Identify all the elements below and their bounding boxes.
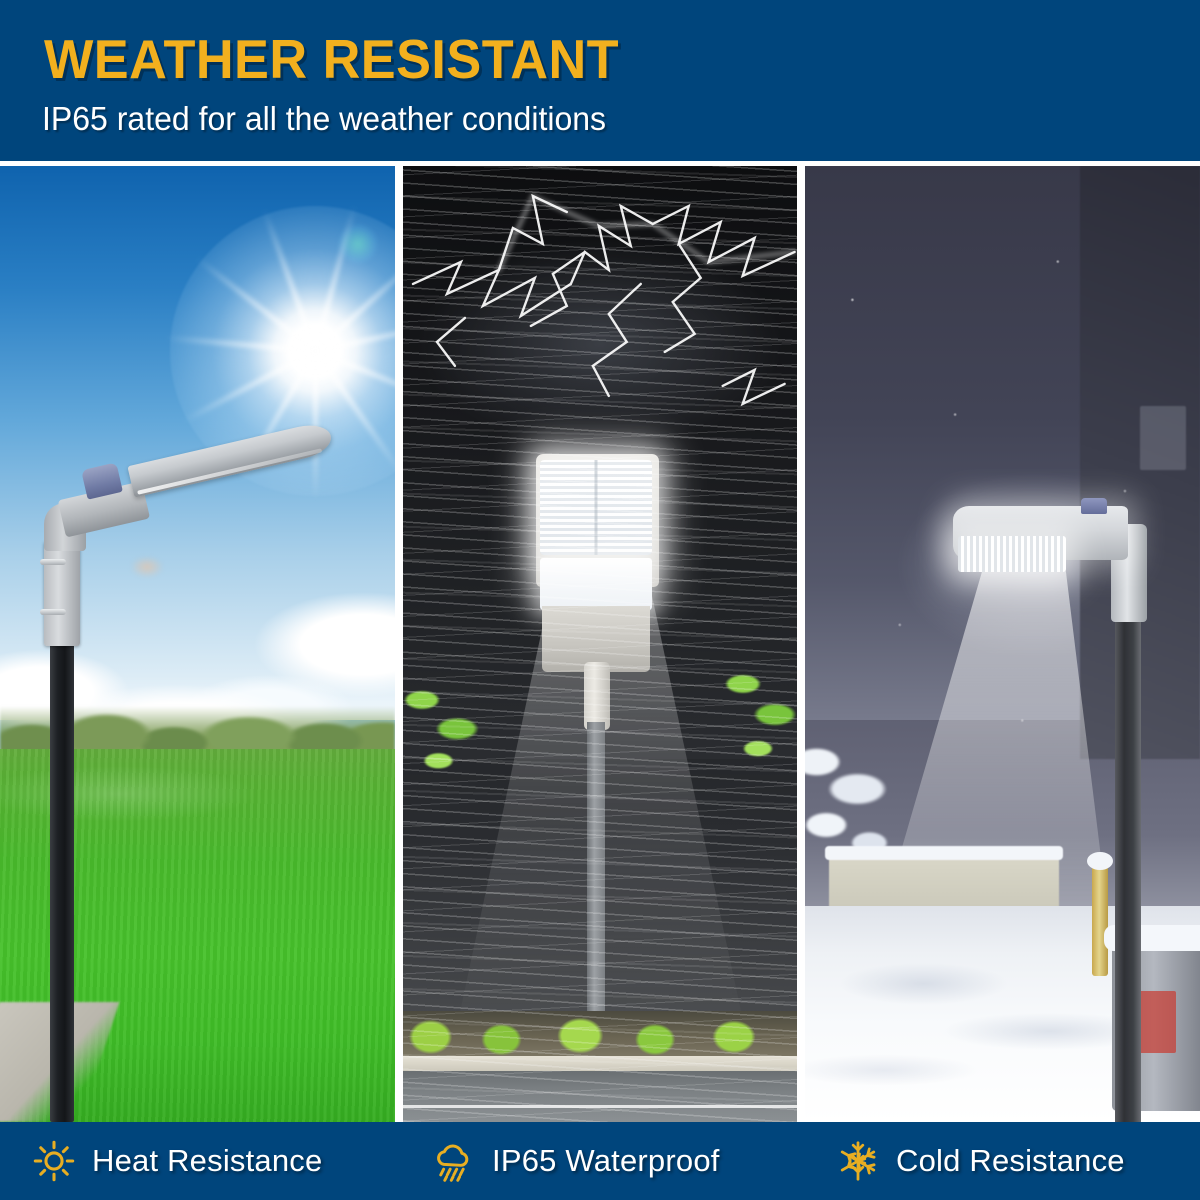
panel-ip65-waterproof [403,166,798,1122]
panel-heat-resistance [0,166,395,1122]
rain-layer-front [403,166,798,1122]
snowflake-icon [835,1138,881,1184]
falling-snow [805,166,1200,1122]
caption-label: IP65 Waterproof [492,1143,720,1179]
page-subtitle: IP65 rated for all the weather condition… [42,100,606,138]
image-panel-strip [0,166,1200,1122]
pole-bracket [44,541,80,646]
bracket-bolt [40,559,66,565]
page-title: WEATHER RESISTANT [44,27,619,91]
sun-rays [315,351,316,352]
lens-flare-upper [338,224,378,264]
caption-heat-resistance: Heat Resistance [0,1122,400,1200]
rain-cloud-icon [431,1138,477,1184]
bracket-bolt [40,609,66,615]
caption-label: Cold Resistance [896,1143,1125,1179]
header-bar: WEATHER RESISTANT IP65 rated for all the… [0,0,1200,161]
product-feature-banner: WEATHER RESISTANT IP65 rated for all the… [0,0,1200,1200]
sun-icon [31,1138,77,1184]
caption-ip65-waterproof: IP65 Waterproof [400,1122,800,1200]
footer-caption-bar: Heat Resistance IP65 Waterproof [0,1122,1200,1200]
caption-cold-resistance: Cold Resistance [800,1122,1200,1200]
panel-cold-resistance [805,166,1200,1122]
caption-label: Heat Resistance [92,1143,322,1179]
